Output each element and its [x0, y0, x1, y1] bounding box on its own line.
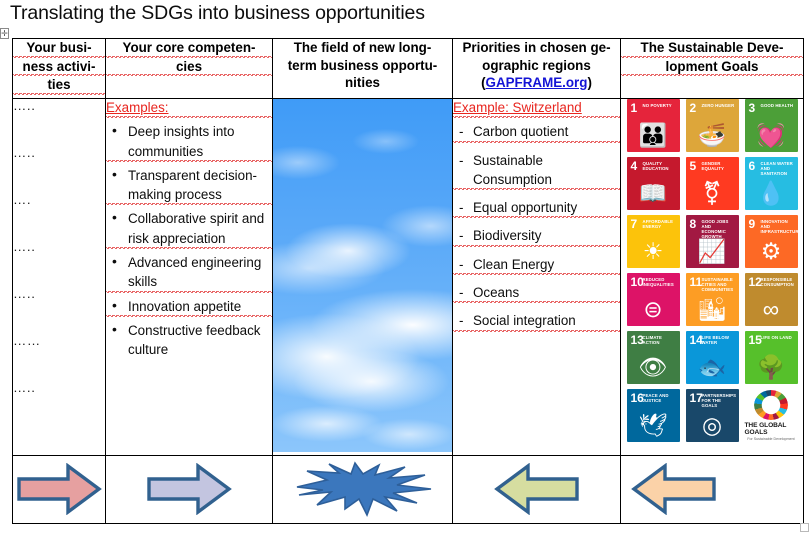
header-line: lopment Goals	[621, 58, 803, 77]
cell-business-activities[interactable]: ….. ….. …. ….. ….. …… …..	[13, 99, 106, 455]
sdg-goal-title: Reduced Inequalities	[643, 277, 678, 287]
sdg-goal-5-icon[interactable]: 5Gender Equality⚧	[686, 157, 739, 210]
list-item: Constructive feedback culture	[106, 321, 272, 360]
example-switzerland-text: Example: Switzerland	[453, 100, 582, 115]
cell-arrow-2[interactable]	[106, 455, 273, 523]
dots-line: ……	[13, 334, 105, 348]
example-switzerland-label: Example: Switzerland	[453, 99, 620, 118]
list-item: Collaborative spirit and risk appreciati…	[106, 209, 272, 249]
sdg-goal-11-icon[interactable]: 11Sustainable Cities and Communities🏙	[686, 273, 739, 326]
sdg-goal-pictogram: 👁	[627, 352, 680, 382]
list-item: Sustainable Consumption	[453, 151, 620, 191]
sdg-goal-title: Responsible Consumption	[761, 277, 796, 287]
cell-new-opportunities-image[interactable]	[273, 99, 453, 455]
sdg-goal-pictogram: ◎	[686, 410, 739, 440]
sdg-goal-title: Good Health	[761, 103, 796, 108]
examples-label-text: Examples:	[106, 100, 169, 115]
header-priorities-geographic-regions: Priorities in chosen ge- ographic region…	[453, 39, 621, 99]
priorities-list: Carbon quotient Sustainable Consumption …	[453, 122, 620, 331]
explosion-burst-icon	[273, 456, 452, 522]
list-item: Equal opportunity	[453, 198, 620, 218]
sdg-goal-pictogram: 📈	[686, 236, 739, 266]
sdg-goal-title: Gender Equality	[702, 161, 737, 171]
sdg-goal-pictogram: 🍜	[686, 120, 739, 150]
sdg-goal-number: 3	[749, 102, 756, 114]
competency-list: Deep insights into communities Transpare…	[106, 122, 272, 359]
sdg-goal-pictogram: 👪	[627, 120, 680, 150]
sdg-goal-9-icon[interactable]: 9Innovation and Infrastructure⚙	[745, 215, 798, 268]
header-sustainable-development-goals: The Sustainable Deve- lopment Goals	[621, 39, 804, 99]
list-item: Oceans	[453, 283, 620, 303]
cell-geographic-priorities[interactable]: Example: Switzerland Carbon quotient Sus…	[453, 99, 621, 455]
arrow-left-green-icon	[453, 456, 620, 522]
header-line: Priorities in chosen ge-	[453, 39, 620, 57]
list-item: Clean Energy	[453, 255, 620, 275]
list-item: Carbon quotient	[453, 122, 620, 142]
sdg-goal-15-icon[interactable]: 15Life on Land🌳	[745, 331, 798, 384]
sdg-goal-number: 1	[631, 102, 638, 114]
sdg-goal-4-icon[interactable]: 4Quality Education📖	[627, 157, 680, 210]
sdg-goal-17-icon[interactable]: 17Partnerships for the Goals◎	[686, 389, 739, 442]
sdg-goal-3-icon[interactable]: 3Good Health💓	[745, 99, 798, 152]
sdg-goal-number: 8	[690, 218, 697, 230]
sdg-goal-7-icon[interactable]: 7Affordable Energy☀	[627, 215, 680, 268]
sdg-goal-1-icon[interactable]: 1No Poverty👪	[627, 99, 680, 152]
cell-core-competencies[interactable]: Examples: Deep insights into communities…	[106, 99, 273, 455]
sdg-goal-pictogram: ⚙	[745, 236, 798, 266]
header-line: Your core competen-	[106, 39, 272, 58]
sdg-goal-pictogram: 🕊	[627, 410, 680, 440]
sdg-goal-pictogram: 📖	[627, 178, 680, 208]
header-your-core-competencies: Your core competen- cies	[106, 39, 273, 99]
sdg-goal-pictogram: 🐟	[686, 352, 739, 382]
sdg-goal-number: 5	[690, 160, 697, 172]
table-header-row: Your busi- ness activi- ties Your core c…	[13, 39, 804, 99]
list-item: Biodiversity	[453, 226, 620, 246]
sdg-goal-title: Quality Education	[643, 161, 678, 171]
sdg-goal-number: 9	[749, 218, 756, 230]
dots-line: …..	[13, 146, 105, 160]
sdg-icon-grid: 1No Poverty👪2Zero Hunger🍜3Good Health💓4Q…	[621, 99, 803, 442]
cell-sdg-icons[interactable]: 1No Poverty👪2Zero Hunger🍜3Good Health💓4Q…	[621, 99, 804, 455]
sdg-goal-2-icon[interactable]: 2Zero Hunger🍜	[686, 99, 739, 152]
arrow-right-red-icon	[13, 456, 105, 522]
sdg-goal-title: Clean Water and Sanitation	[761, 161, 796, 176]
sdg-goal-pictogram: ⚧	[686, 178, 739, 208]
gapframe-link[interactable]: GAPFRAME.org	[486, 75, 588, 90]
arrow-left-orange-icon	[621, 456, 803, 522]
sdg-goal-pictogram: 🏙	[686, 294, 739, 324]
sdg-goal-pictogram: 💧	[745, 178, 798, 208]
sdg-goal-16-icon[interactable]: 16Peace and Justice🕊	[627, 389, 680, 442]
table-arrow-row	[13, 455, 804, 523]
table-move-handle[interactable]: ✛	[0, 28, 9, 39]
header-line: The Sustainable Deve-	[621, 39, 803, 58]
dots-line: …..	[13, 287, 105, 301]
header-line: ness activi-	[13, 58, 105, 77]
page-title: Translating the SDGs into business oppor…	[10, 2, 425, 25]
global-goals-wheel-logo[interactable]: THE GLOBAL GOALSFor Sustainable Developm…	[745, 389, 798, 442]
cell-arrow-5[interactable]	[621, 455, 804, 523]
sdg-goal-title: Life Below Water	[702, 335, 737, 345]
color-wheel-icon	[754, 390, 788, 420]
header-your-business-activities: Your busi- ness activi- ties	[13, 39, 106, 99]
sdg-goal-title: Life on Land	[761, 335, 796, 340]
sdg-opportunity-table: Your busi- ness activi- ties Your core c…	[12, 38, 804, 524]
document-page: Translating the SDGs into business oppor…	[0, 0, 812, 537]
header-line: term business opportu-	[273, 57, 452, 75]
list-item: Transparent decision-making process	[106, 166, 272, 206]
sdg-goal-title: Partnerships for the Goals	[702, 393, 737, 408]
sdg-goal-number: 11	[690, 276, 703, 288]
cell-burst[interactable]	[273, 455, 453, 523]
sdg-goal-8-icon[interactable]: 8Good Jobs and Economic Growth📈	[686, 215, 739, 268]
header-line: cies	[106, 58, 272, 77]
sdg-goal-number: 4	[631, 160, 638, 172]
sdg-goal-number: 6	[749, 160, 756, 172]
header-line: Your busi-	[13, 39, 105, 58]
sdg-goal-title: Zero Hunger	[702, 103, 737, 108]
sdg-goal-10-icon[interactable]: 10Reduced Inequalities⊜	[627, 273, 680, 326]
sdg-goal-number: 7	[631, 218, 638, 230]
header-line: ties	[13, 76, 105, 95]
dots-line: …..	[13, 240, 105, 254]
sdg-goal-pictogram: ∞	[745, 294, 798, 324]
list-item: Advanced engineering skills	[106, 253, 272, 293]
sdg-goal-title: Affordable Energy	[643, 219, 678, 229]
blue-sky-clouds-image	[273, 99, 452, 452]
dots-line: …..	[13, 99, 105, 113]
sdg-goal-pictogram: ⊜	[627, 294, 680, 324]
cell-arrow-4[interactable]	[453, 455, 621, 523]
resize-handle[interactable]	[800, 523, 809, 532]
header-line: The field of new long-	[273, 39, 452, 57]
sdg-goal-pictogram: 🌳	[745, 352, 798, 382]
list-item: Social integration	[453, 311, 620, 331]
cell-arrow-1[interactable]	[13, 455, 106, 523]
header-line: nities	[273, 74, 452, 92]
sdg-goal-title: Climate Action	[643, 335, 678, 345]
sdg-goal-13-icon[interactable]: 13Climate Action👁	[627, 331, 680, 384]
sdg-goal-pictogram: ☀	[627, 236, 680, 266]
global-goals-subcaption: For Sustainable Development	[747, 437, 794, 442]
table-body-row: ….. ….. …. ….. ….. …… ….. Examples: Deep…	[13, 99, 804, 455]
paren-close: )	[587, 75, 591, 90]
examples-label: Examples:	[106, 99, 272, 118]
sdg-goal-title: No Poverty	[643, 103, 678, 108]
header-link-line: (GAPFRAME.org)	[453, 74, 620, 92]
sdg-goal-number: 2	[690, 102, 697, 114]
arrow-right-purple-icon	[106, 456, 272, 522]
header-line: ographic regions	[453, 57, 620, 75]
sdg-goal-12-icon[interactable]: 12Responsible Consumption∞	[745, 273, 798, 326]
list-item: Deep insights into communities	[106, 122, 272, 162]
global-goals-caption: THE GLOBAL GOALS	[745, 422, 798, 436]
list-item: Innovation appetite	[106, 297, 272, 317]
sdg-goal-title: Peace and Justice	[643, 393, 678, 403]
sdg-goal-6-icon[interactable]: 6Clean Water and Sanitation💧	[745, 157, 798, 210]
dots-line: …..	[13, 381, 105, 395]
sdg-goal-title: Innovation and Infrastructure	[761, 219, 796, 234]
sdg-goal-pictogram: 💓	[745, 120, 798, 150]
dots-line: ….	[13, 193, 105, 207]
sdg-goal-14-icon[interactable]: 14Life Below Water🐟	[686, 331, 739, 384]
header-field-of-new-opportunities: The field of new long- term business opp…	[273, 39, 453, 99]
sdg-goal-title: Sustainable Cities and Communities	[702, 277, 737, 292]
